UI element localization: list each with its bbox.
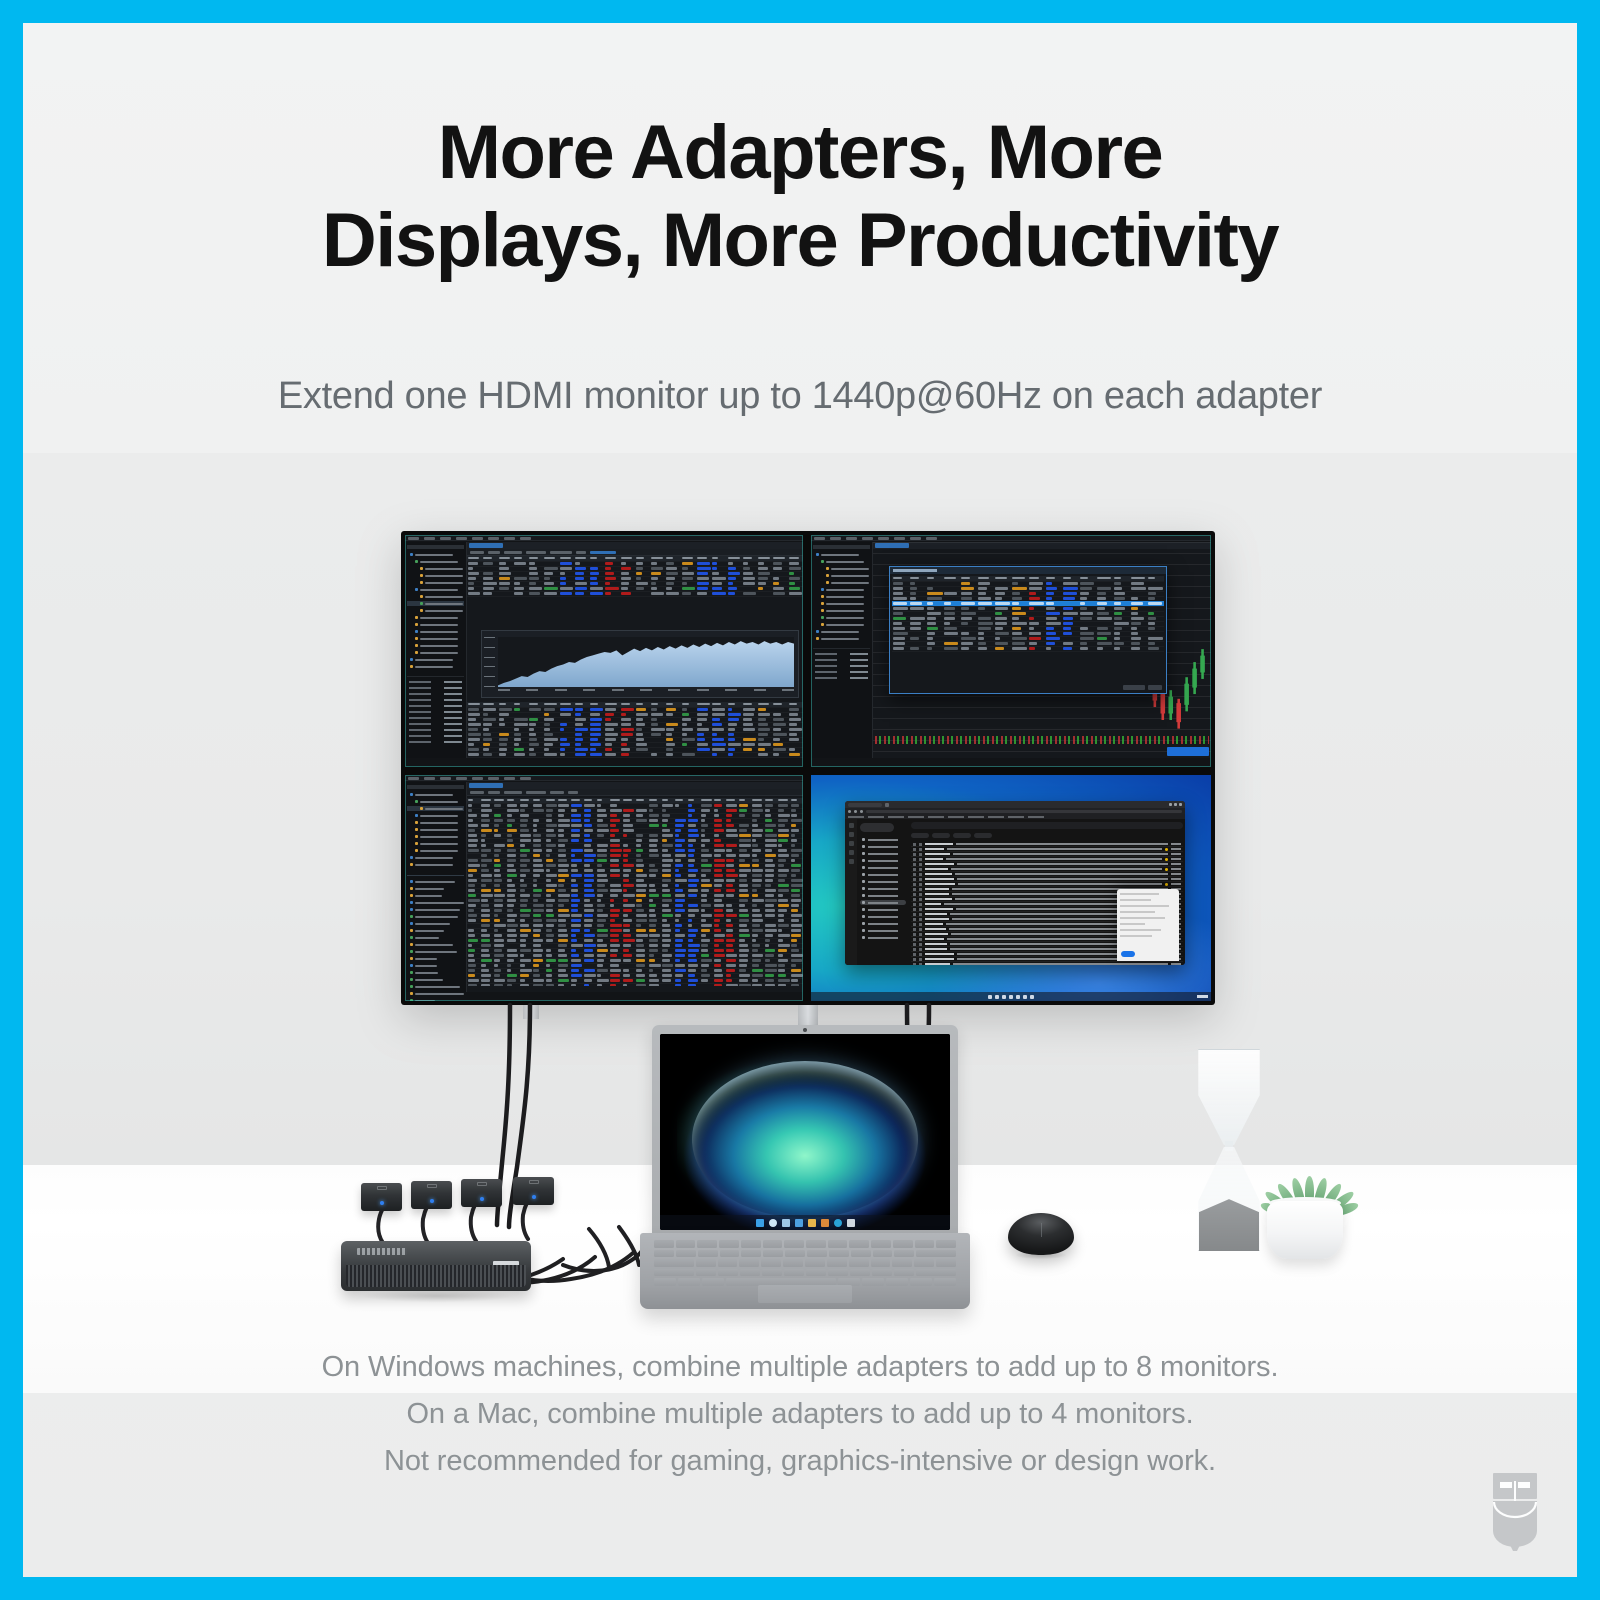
sender (925, 903, 941, 905)
navigator-tree[interactable] (811, 542, 873, 758)
close-icon[interactable] (1179, 803, 1182, 806)
timestamp (1171, 853, 1181, 855)
browser-window[interactable] (845, 801, 1185, 965)
keyboard-row (654, 1250, 956, 1258)
menu-bar[interactable] (811, 535, 1211, 541)
url-text[interactable] (866, 810, 1182, 813)
subtitle: Extend one HDMI monitor up to 1440p@60Hz… (23, 375, 1577, 418)
portfolio-workspace (467, 542, 803, 758)
volume-strip (875, 736, 1209, 744)
search-icon[interactable] (995, 995, 999, 999)
attachment-icon (1165, 848, 1168, 851)
star-icon[interactable] (919, 878, 922, 881)
monitor-stand-neck-left (523, 1005, 539, 1019)
log-entry[interactable] (407, 879, 464, 884)
list-item[interactable] (911, 962, 1183, 965)
strategy-grid[interactable] (890, 574, 1166, 654)
hdmi-port-icon (529, 1180, 539, 1184)
equity-curve (498, 637, 794, 687)
new-tab-icon[interactable] (885, 803, 889, 807)
keyboard-row (654, 1269, 956, 1277)
star-icon[interactable] (919, 933, 922, 936)
timestamp (1171, 843, 1181, 845)
assign-options-strategy-dialog[interactable] (889, 566, 1167, 694)
hdmi-port-icon (477, 1182, 487, 1186)
blotter-workspace (467, 782, 803, 992)
star-icon[interactable] (919, 938, 922, 941)
star-icon[interactable] (919, 853, 922, 856)
gmail-app (845, 819, 1185, 965)
log-entry[interactable] (407, 900, 464, 905)
laptop (640, 1025, 970, 1315)
subject (953, 853, 1168, 855)
footer-line-2: On a Mac, combine multiple adapters to a… (23, 1391, 1577, 1438)
headline-line-2: Displays, More Productivity (322, 198, 1278, 283)
monitor-bottom-left-screen (405, 775, 803, 1001)
navigator-tree[interactable] (405, 782, 467, 992)
star-icon[interactable] (919, 898, 922, 901)
sender (925, 878, 954, 880)
positions-grid-bottom[interactable] (467, 702, 803, 758)
footer-line-3: Not recommended for gaming, graphics-int… (23, 1438, 1577, 1485)
taskbar-clock (1197, 995, 1208, 998)
mouse-button-seam (1041, 1223, 1042, 1237)
log-entry[interactable] (407, 991, 464, 996)
subject (953, 963, 1168, 965)
sender (925, 898, 952, 900)
checkbox[interactable] (913, 908, 916, 911)
star-icon[interactable] (919, 893, 922, 896)
hdmi-port-icon (427, 1184, 437, 1188)
usb-hdmi-adapter-2[interactable] (411, 1181, 452, 1209)
sender (925, 858, 943, 860)
subject (957, 863, 1168, 865)
navigator-tree[interactable] (405, 542, 467, 758)
windows-taskbar[interactable] (811, 992, 1211, 1001)
star-icon[interactable] (919, 923, 922, 926)
word-icon[interactable] (847, 1219, 855, 1227)
edge-icon[interactable] (1016, 995, 1020, 999)
filter-toolbar[interactable] (467, 789, 803, 796)
page-title: More Adapters, More Displays, More Produ… (23, 109, 1577, 285)
checkbox[interactable] (913, 863, 916, 866)
log-entry[interactable] (407, 921, 464, 926)
checkbox[interactable] (913, 948, 916, 951)
event-log-panel[interactable] (407, 875, 464, 1001)
log-entry[interactable] (407, 956, 464, 961)
star-icon[interactable] (919, 948, 922, 951)
table-row[interactable] (467, 591, 803, 596)
checkbox[interactable] (913, 868, 916, 871)
timestamp (1171, 863, 1181, 865)
keyboard-row (654, 1259, 956, 1267)
monitor-bottom-right-screen (811, 775, 1211, 1001)
windows-wallpaper (660, 1034, 950, 1230)
monitor-top-left (401, 531, 807, 771)
usb-docking-station[interactable] (341, 1241, 531, 1291)
star-icon[interactable] (919, 963, 922, 966)
equity-area-chart (481, 630, 799, 698)
checkbox[interactable] (913, 848, 916, 851)
cyan-border-frame: More Adapters, More Displays, More Produ… (0, 0, 1600, 1600)
laptop-taskbar[interactable] (660, 1215, 950, 1230)
timestamp (1171, 963, 1181, 965)
monitor-top-right-screen (811, 535, 1211, 767)
star-icon[interactable] (919, 943, 922, 946)
taskview-icon[interactable] (1002, 995, 1006, 999)
checkbox[interactable] (913, 903, 916, 906)
data-grid[interactable] (467, 702, 803, 758)
timestamp (1171, 868, 1181, 870)
log-entry[interactable] (407, 942, 464, 947)
sender (925, 848, 944, 850)
checkbox[interactable] (913, 913, 916, 916)
star-icon[interactable] (919, 928, 922, 931)
monitor-top-left-screen (405, 535, 803, 767)
laptop-trackpad[interactable] (758, 1285, 852, 1303)
star-icon[interactable] (919, 953, 922, 956)
star-icon[interactable] (919, 848, 922, 851)
trading-app-blotter (405, 775, 803, 1001)
positions-grid-top[interactable] (467, 556, 803, 597)
star-icon[interactable] (919, 868, 922, 871)
laptop-keyboard[interactable] (654, 1240, 956, 1286)
power-led-indicator (532, 1195, 536, 1199)
star-icon[interactable] (919, 903, 922, 906)
chart-workspace (873, 542, 1211, 758)
log-entry[interactable] (407, 970, 464, 975)
sender (925, 843, 953, 845)
properties-panel (813, 648, 870, 681)
checkbox[interactable] (913, 918, 916, 921)
window-tabs[interactable] (467, 782, 803, 789)
star-icon[interactable] (919, 918, 922, 921)
log-entry[interactable] (407, 977, 464, 982)
dock-shadow (331, 1287, 543, 1305)
checkbox[interactable] (913, 858, 916, 861)
checkbox[interactable] (913, 953, 916, 956)
product-scene (23, 453, 1577, 1333)
sender (925, 953, 954, 955)
edge-icon[interactable] (834, 1219, 842, 1227)
table-row[interactable] (467, 757, 803, 758)
subject (958, 883, 1162, 885)
sender (925, 948, 947, 950)
table-row[interactable] (467, 983, 803, 986)
sender (925, 908, 953, 910)
checkbox[interactable] (913, 938, 916, 941)
trade-blotter-grid[interactable] (467, 798, 803, 986)
ceramic-pot (1267, 1201, 1343, 1259)
start-icon[interactable] (988, 995, 992, 999)
hdmi-port-icon (377, 1186, 387, 1190)
sender (925, 963, 950, 965)
dialog-title-bar (890, 567, 1166, 574)
sender (925, 863, 954, 865)
footer-line-1: On Windows machines, combine multiple ad… (23, 1344, 1577, 1391)
sender (925, 853, 950, 855)
sender (925, 923, 943, 925)
usb-connector-icon (1487, 1469, 1543, 1551)
checkbox[interactable] (913, 843, 916, 846)
power-led-indicator (480, 1197, 484, 1201)
properties-panel (407, 676, 464, 745)
minimize-icon[interactable] (1169, 803, 1172, 806)
maximize-icon[interactable] (1174, 803, 1177, 806)
sender (925, 883, 955, 885)
usb-hdmi-adapter-4[interactable] (513, 1177, 554, 1205)
log-entry[interactable] (407, 914, 464, 919)
gmail-rail[interactable] (845, 819, 857, 965)
sender (925, 893, 949, 895)
search-icon[interactable] (769, 1219, 777, 1227)
subject (951, 868, 1162, 870)
star-icon[interactable] (919, 843, 922, 846)
attachment-icon (1165, 858, 1168, 861)
compose-button[interactable] (860, 823, 894, 832)
checkbox[interactable] (913, 943, 916, 946)
log-entry[interactable] (407, 893, 464, 898)
sender (925, 928, 946, 930)
sender (925, 913, 947, 915)
computer-mouse[interactable] (1008, 1213, 1074, 1255)
sender (925, 943, 947, 945)
store-icon[interactable] (1023, 995, 1027, 999)
log-entry[interactable] (407, 928, 464, 933)
star-icon[interactable] (919, 913, 922, 916)
dock-vent-grille (346, 1265, 526, 1287)
subject (947, 848, 1162, 850)
checkbox[interactable] (913, 928, 916, 931)
timestamp (1171, 883, 1181, 885)
checkbox[interactable] (913, 873, 916, 876)
explorer-icon[interactable] (808, 1219, 816, 1227)
log-entry[interactable] (407, 984, 464, 989)
sender (925, 873, 952, 875)
checkbox[interactable] (913, 963, 916, 966)
laptop-lid (652, 1025, 958, 1240)
timestamp (1171, 848, 1181, 850)
monitor-top-right (807, 531, 1215, 771)
start-icon[interactable] (756, 1219, 764, 1227)
checkbox[interactable] (913, 893, 916, 896)
subject (957, 878, 1168, 880)
reload-icon[interactable] (860, 810, 863, 813)
attachment-icon (1165, 883, 1168, 886)
browser-tab[interactable] (848, 803, 882, 807)
taskview-icon[interactable] (782, 1219, 790, 1227)
forward-icon[interactable] (854, 810, 857, 813)
subject (956, 843, 1168, 845)
chart-status-highlight (1167, 747, 1209, 756)
menu-bar[interactable] (405, 775, 803, 781)
checkbox[interactable] (913, 933, 916, 936)
headline-line-1: More Adapters, More (438, 110, 1163, 195)
usb-hdmi-adapter-3[interactable] (461, 1179, 502, 1207)
window-tabs[interactable] (467, 542, 803, 549)
cancel-button[interactable] (1148, 685, 1162, 690)
sender (925, 938, 944, 940)
log-entry[interactable] (407, 949, 464, 954)
data-grid[interactable] (467, 556, 803, 597)
compose-popup[interactable] (1117, 889, 1179, 961)
log-entry[interactable] (407, 935, 464, 940)
sender (925, 918, 949, 920)
sender (925, 933, 948, 935)
sender (925, 888, 949, 890)
sender (925, 958, 954, 960)
monitor-bottom-left (401, 771, 807, 1005)
laptop-base (640, 1233, 970, 1309)
back-icon[interactable] (848, 810, 851, 813)
log-entry[interactable] (407, 907, 464, 912)
log-entry[interactable] (407, 963, 464, 968)
log-entry[interactable] (407, 998, 464, 1001)
trading-app-portfolio (405, 535, 803, 767)
widgets-icon[interactable] (795, 1219, 803, 1227)
monitor-bottom-right (807, 771, 1215, 1005)
footer-notes: On Windows machines, combine multiple ad… (23, 1344, 1577, 1485)
assign-strategy-button[interactable] (1123, 685, 1145, 690)
mail-icon[interactable] (1030, 995, 1034, 999)
potted-succulent (1259, 1147, 1351, 1259)
power-led-indicator (430, 1199, 434, 1203)
data-grid[interactable] (892, 576, 1164, 652)
star-icon[interactable] (919, 858, 922, 861)
timestamp (1171, 878, 1181, 880)
gmail-search-input[interactable] (911, 822, 1183, 829)
windows-desktop (811, 775, 1211, 1001)
store-icon[interactable] (821, 1219, 829, 1227)
gmail-filter-chips[interactable] (911, 833, 1183, 838)
star-icon[interactable] (919, 873, 922, 876)
hourglass (1191, 1049, 1267, 1261)
sender (925, 868, 948, 870)
checkbox[interactable] (913, 888, 916, 891)
checkbox[interactable] (913, 898, 916, 901)
timestamp (1171, 873, 1181, 875)
hourglass-top-bulb (1197, 1049, 1261, 1145)
data-grid[interactable] (467, 798, 803, 986)
subject (946, 858, 1162, 860)
laptop-screen[interactable] (660, 1034, 950, 1230)
checkbox[interactable] (913, 923, 916, 926)
star-icon[interactable] (919, 908, 922, 911)
attachment-icon (1165, 868, 1168, 871)
keyboard-row (654, 1240, 956, 1248)
browser-tab-bar[interactable] (845, 801, 1185, 808)
poster-canvas: More Adapters, More Displays, More Produ… (23, 23, 1577, 1577)
star-icon[interactable] (919, 958, 922, 961)
usb-hdmi-adapter-1[interactable] (361, 1183, 402, 1211)
checkbox[interactable] (913, 883, 916, 886)
dock-brand-logo (357, 1248, 407, 1255)
subject (955, 873, 1168, 875)
star-icon[interactable] (919, 888, 922, 891)
star-icon[interactable] (919, 883, 922, 886)
menu-bar[interactable] (405, 535, 803, 541)
trading-app-chart (811, 535, 1211, 767)
explorer-icon[interactable] (1009, 995, 1013, 999)
table-row[interactable] (892, 646, 1164, 651)
webcam-icon (803, 1028, 807, 1032)
monitor-array (401, 531, 1215, 1005)
checkbox[interactable] (913, 878, 916, 881)
power-led-indicator (380, 1201, 384, 1205)
log-entry[interactable] (407, 886, 464, 891)
timestamp (1171, 858, 1181, 860)
checkbox[interactable] (913, 958, 916, 961)
filter-toolbar[interactable] (467, 549, 803, 556)
send-button[interactable] (1121, 951, 1135, 957)
checkbox[interactable] (913, 853, 916, 856)
star-icon[interactable] (919, 863, 922, 866)
gmail-sidebar[interactable] (857, 819, 909, 965)
